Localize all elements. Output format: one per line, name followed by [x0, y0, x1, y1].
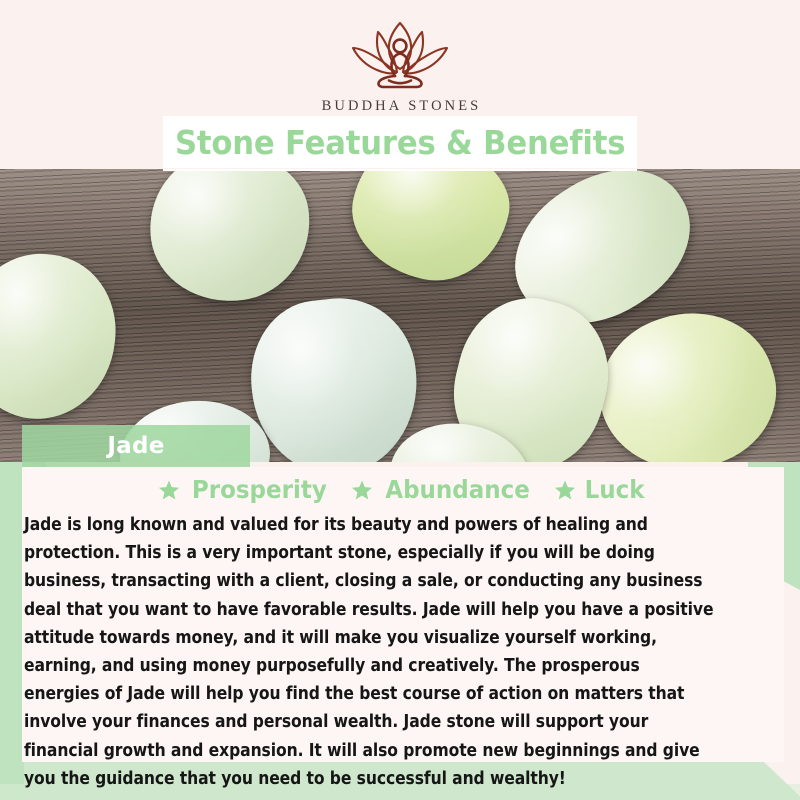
benefit-item-prosperity: Prosperity: [158, 475, 333, 504]
benefit-label: Abundance: [385, 475, 530, 504]
benefit-item-abundance: Abundance: [351, 475, 536, 504]
benefit-label: Luck: [585, 475, 645, 504]
stone-name: Jade: [107, 433, 164, 459]
title-banner: Stone Features & Benefits: [163, 116, 637, 168]
star-icon: [158, 479, 180, 501]
brand-wordmark: BUDDHA STONES: [0, 98, 800, 115]
benefit-item-luck: Luck: [554, 475, 647, 504]
star-icon: [554, 479, 576, 501]
brand-logo: BUDDHA STONES: [0, 18, 800, 115]
stone-info-card: BUDDHA STONES Stone Features & Benefits …: [0, 0, 800, 800]
benefit-label: Prosperity: [192, 475, 327, 504]
lotus-meditation-icon: [334, 18, 466, 92]
page-title: Stone Features & Benefits: [175, 123, 625, 162]
benefits-list: Prosperity Abundance Luck: [22, 475, 784, 504]
content-panel: Prosperity Abundance Luck Jade is long k…: [22, 467, 784, 762]
jade-stones-photo: [0, 169, 800, 462]
star-icon: [351, 479, 373, 501]
photo-top-notch: [163, 169, 637, 171]
stone-name-badge: Jade: [22, 425, 250, 467]
stone-description: Jade is long known and valued for its be…: [24, 511, 718, 793]
